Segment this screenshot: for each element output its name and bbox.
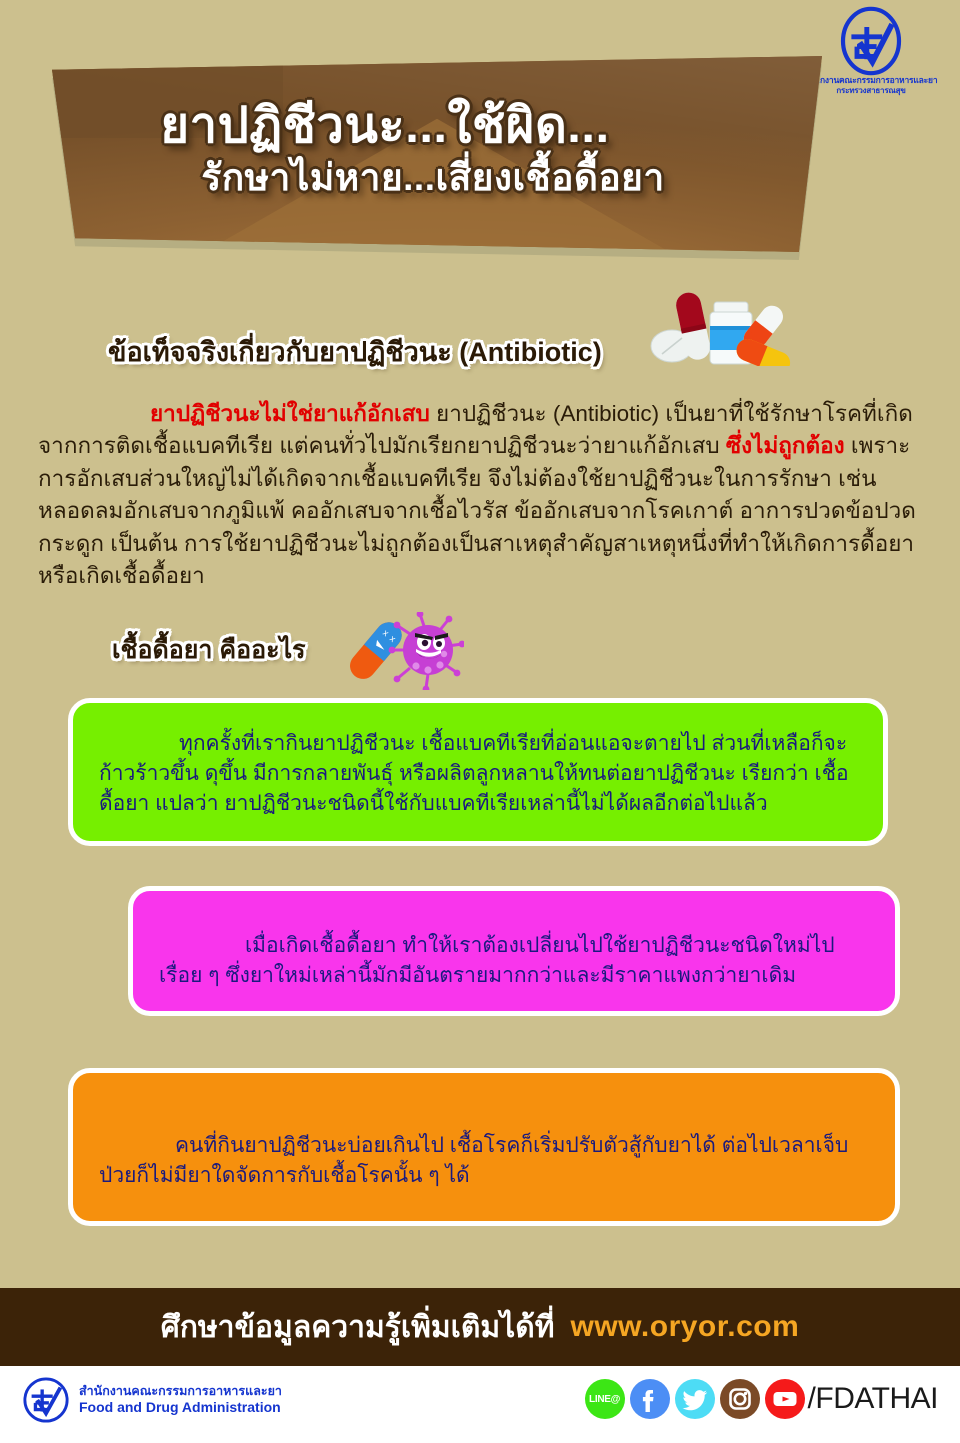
paragraph-highlight-1: ยาปฏิชีวนะไม่ใช่ยาแก้อักเสบ <box>150 401 430 426</box>
twitter-icon[interactable] <box>675 1379 715 1419</box>
facebook-icon[interactable] <box>630 1379 670 1419</box>
social-handle: /FDATHAI <box>808 1382 938 1416</box>
fact-box-orange-text: คนที่กินยาปฏิชีวนะบ่อยเกินไป เชื้อโรคก็เ… <box>99 1134 848 1187</box>
footer-cta-band: ศึกษาข้อมูลความรู้เพิ่มเติมได้ที่ www.or… <box>0 1288 960 1366</box>
page-title-line-1: ยาปฏิชีวนะ...ใช้ผิด... <box>160 97 609 155</box>
fda-thailand-logo-icon <box>22 1376 70 1424</box>
fda-footer-line-english: Food and Drug Administration <box>79 1399 282 1416</box>
header-banner-region: ยาปฏิชีวนะ...ใช้ผิด... รักษาไม่หาย...เสี… <box>0 48 960 293</box>
medicine-pills-bottle-illustration <box>648 288 796 366</box>
fact-box-green-text: ทุกครั้งที่เรากินยาปฏิชีวนะ เชื้อแบคทีเร… <box>99 732 849 815</box>
page-title: ยาปฏิชีวนะ...ใช้ผิด... รักษาไม่หาย...เสี… <box>0 48 770 244</box>
fact-box-pink-text: เมื่อเกิดเชื้อดื้อยา ทำให้เราต้องเปลี่ยน… <box>159 934 835 987</box>
social-links: LINE@ /FDATHAI <box>585 1379 938 1419</box>
fda-footer-line-thai: สำนักงานคณะกรรมการอาหารและยา <box>79 1384 282 1399</box>
fda-logo-footer: สำนักงานคณะกรรมการอาหารและยา Food and Dr… <box>22 1376 282 1424</box>
fact-box-green: ทุกครั้งที่เรากินยาปฏิชีวนะ เชื้อแบคทีเร… <box>68 698 888 846</box>
footer-website-url[interactable]: www.oryor.com <box>571 1310 800 1344</box>
section-heading-facts: ข้อเท็จจริงเกี่ยวกับยาปฏิชีวนะ (Antibiot… <box>108 330 602 373</box>
fda-footer-text: สำนักงานคณะกรรมการอาหารและยา Food and Dr… <box>79 1384 282 1416</box>
section-heading-facts-label: ข้อเท็จจริงเกี่ยวกับยาปฏิชีวนะ (Antibiot… <box>108 330 602 373</box>
line-icon[interactable]: LINE@ <box>585 1379 625 1419</box>
footer-cta-label: ศึกษาข้อมูลความรู้เพิ่มเติมได้ที่ <box>161 1304 555 1351</box>
paragraph-highlight-2: ซึ่งไม่ถูกต้อง <box>726 433 845 458</box>
line-icon-label: LINE@ <box>589 1394 620 1405</box>
fact-box-orange: คนที่กินยาปฏิชีวนะบ่อยเกินไป เชื้อโรคก็เ… <box>68 1068 900 1226</box>
instagram-icon[interactable] <box>720 1379 760 1419</box>
page-title-line-2: รักษาไม่หาย...เสี่ยงเชื้อดื้อยา <box>105 155 664 201</box>
angry-germ-with-capsule-illustration: x x <box>336 612 464 690</box>
body-paragraph: ยาปฏิชีวนะไม่ใช่ยาแก้อักเสบ ยาปฏิชีวนะ (… <box>38 398 922 592</box>
footer-logo-strip: สำนักงานคณะกรรมการอาหารและยา Food and Dr… <box>0 1366 960 1443</box>
youtube-icon[interactable] <box>765 1379 805 1419</box>
fact-box-pink: เมื่อเกิดเชื้อดื้อยา ทำให้เราต้องเปลี่ยน… <box>128 886 900 1016</box>
section-heading-resistance: เชื้อดื้อยา คืออะไร <box>112 630 306 670</box>
section-heading-resistance-label: เชื้อดื้อยา คืออะไร <box>112 630 306 670</box>
